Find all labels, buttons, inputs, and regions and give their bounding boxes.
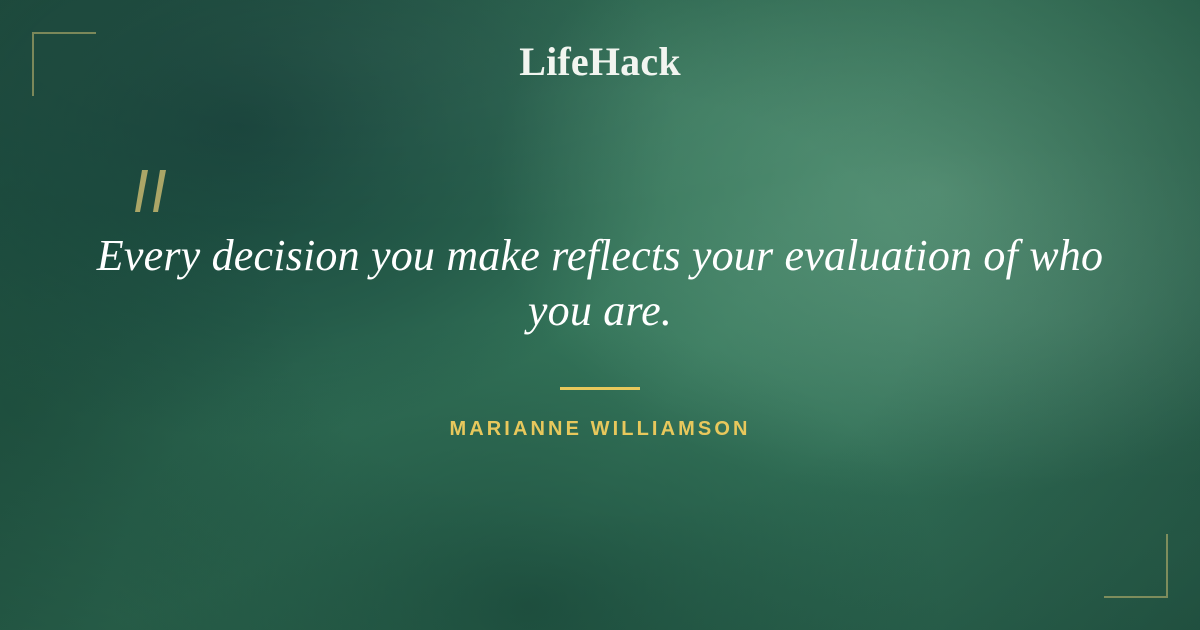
quote-content: Every decision you make reflects your ev… — [80, 228, 1120, 441]
quote-mark-icon — [128, 168, 174, 222]
quote-text: Every decision you make reflects your ev… — [80, 228, 1120, 339]
gold-divider — [560, 387, 640, 390]
brand-logo: LifeHack — [0, 38, 1200, 85]
quote-author: MARIANNE WILLIAMSON — [80, 418, 1120, 441]
quote-card: LifeHack Every decision you make reflect… — [0, 0, 1200, 630]
corner-bracket-bottom-right-icon — [1104, 534, 1168, 598]
